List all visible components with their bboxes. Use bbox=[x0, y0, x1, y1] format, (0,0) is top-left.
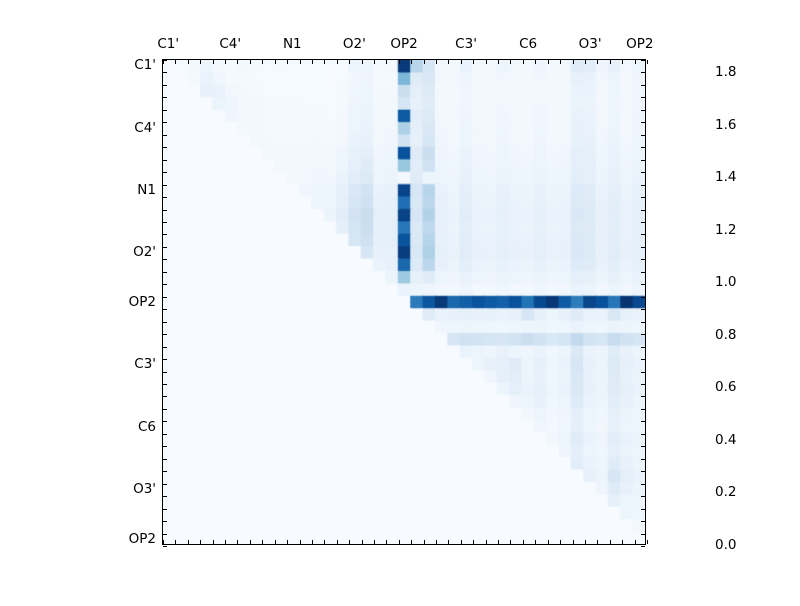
y-tick bbox=[163, 297, 167, 298]
x-tick bbox=[188, 60, 189, 64]
y-tick bbox=[163, 359, 167, 360]
y-tick bbox=[641, 521, 645, 522]
x-tick bbox=[610, 60, 611, 64]
heatmap-image bbox=[163, 60, 645, 544]
x-tick-label: OP2 bbox=[390, 36, 417, 52]
colorbar-tick-label: 1.6 bbox=[715, 117, 736, 133]
x-tick bbox=[250, 540, 251, 544]
y-tick bbox=[163, 496, 167, 497]
x-tick bbox=[349, 540, 350, 544]
x-tick bbox=[237, 60, 238, 64]
x-tick bbox=[262, 540, 263, 544]
y-tick-label: C4' bbox=[134, 120, 156, 136]
x-tick bbox=[275, 540, 276, 544]
x-tick bbox=[300, 540, 301, 544]
x-tick bbox=[585, 540, 586, 544]
y-tick bbox=[641, 459, 645, 460]
y-tick bbox=[641, 309, 645, 310]
x-tick bbox=[213, 60, 214, 64]
x-tick bbox=[200, 60, 201, 64]
y-tick bbox=[641, 234, 645, 235]
x-tick bbox=[200, 540, 201, 544]
y-tick bbox=[163, 509, 167, 510]
y-tick bbox=[641, 359, 645, 360]
x-tick bbox=[585, 60, 586, 64]
x-tick bbox=[225, 540, 226, 544]
y-tick bbox=[163, 85, 167, 86]
x-tick bbox=[175, 540, 176, 544]
y-tick bbox=[163, 471, 167, 472]
y-tick bbox=[163, 210, 167, 211]
x-tick bbox=[374, 60, 375, 64]
x-tick bbox=[411, 540, 412, 544]
x-tick bbox=[610, 540, 611, 544]
x-tick-label: O3' bbox=[579, 36, 602, 52]
x-tick bbox=[312, 540, 313, 544]
x-tick bbox=[275, 60, 276, 64]
y-tick bbox=[641, 147, 645, 148]
y-tick bbox=[641, 471, 645, 472]
x-tick bbox=[337, 540, 338, 544]
x-tick bbox=[225, 60, 226, 64]
x-tick bbox=[597, 60, 598, 64]
colorbar: 0.00.20.40.60.81.01.21.41.61.8 bbox=[679, 59, 789, 545]
y-tick bbox=[641, 546, 645, 547]
y-tick bbox=[163, 234, 167, 235]
x-tick bbox=[523, 60, 524, 64]
x-tick bbox=[424, 540, 425, 544]
x-tick bbox=[647, 540, 648, 544]
x-tick bbox=[324, 60, 325, 64]
x-tick bbox=[523, 540, 524, 544]
y-tick bbox=[641, 496, 645, 497]
y-tick bbox=[641, 409, 645, 410]
y-tick-label: C3' bbox=[134, 356, 156, 372]
y-tick-label: C6 bbox=[138, 419, 156, 435]
x-tick bbox=[436, 540, 437, 544]
x-tick bbox=[287, 60, 288, 64]
x-tick bbox=[448, 540, 449, 544]
colorbar-tick-label: 1.8 bbox=[715, 64, 736, 80]
y-tick-label: N1 bbox=[137, 182, 156, 198]
x-tick bbox=[486, 60, 487, 64]
y-tick bbox=[641, 172, 645, 173]
x-tick bbox=[337, 60, 338, 64]
y-tick bbox=[641, 197, 645, 198]
colorbar-tick-label: 0.4 bbox=[715, 432, 736, 448]
x-tick bbox=[560, 60, 561, 64]
y-tick bbox=[641, 272, 645, 273]
y-tick bbox=[163, 160, 167, 161]
x-tick bbox=[436, 60, 437, 64]
y-tick-label: OP2 bbox=[129, 294, 156, 310]
y-tick-label: O2' bbox=[133, 244, 156, 260]
y-tick bbox=[641, 97, 645, 98]
x-tick bbox=[262, 60, 263, 64]
y-tick bbox=[641, 259, 645, 260]
x-tick bbox=[424, 60, 425, 64]
x-tick bbox=[498, 540, 499, 544]
colorbar-tick-label: 0.2 bbox=[715, 484, 736, 500]
y-tick bbox=[163, 459, 167, 460]
y-tick bbox=[641, 185, 645, 186]
x-tick bbox=[510, 60, 511, 64]
colorbar-tick-label: 1.2 bbox=[715, 222, 736, 238]
x-tick bbox=[175, 60, 176, 64]
colorbar-tick-label: 0.8 bbox=[715, 327, 736, 343]
y-tick bbox=[163, 534, 167, 535]
y-tick bbox=[163, 396, 167, 397]
x-tick-label: OP2 bbox=[626, 36, 653, 52]
x-tick bbox=[473, 60, 474, 64]
x-tick bbox=[548, 540, 549, 544]
y-tick bbox=[641, 60, 645, 61]
y-tick bbox=[163, 97, 167, 98]
y-tick bbox=[163, 60, 167, 61]
x-tick bbox=[448, 60, 449, 64]
y-tick bbox=[163, 110, 167, 111]
y-tick bbox=[163, 72, 167, 73]
heatmap-axes[interactable] bbox=[162, 59, 646, 545]
y-tick bbox=[163, 347, 167, 348]
x-tick bbox=[535, 540, 536, 544]
y-tick bbox=[163, 197, 167, 198]
x-tick bbox=[548, 60, 549, 64]
colorbar-tick-label: 0.0 bbox=[715, 537, 736, 553]
colorbar-tick-label: 1.0 bbox=[715, 274, 736, 290]
y-tick bbox=[163, 309, 167, 310]
y-tick bbox=[163, 284, 167, 285]
y-tick bbox=[641, 384, 645, 385]
x-tick-label: O2' bbox=[343, 36, 366, 52]
x-tick bbox=[622, 540, 623, 544]
y-tick bbox=[163, 259, 167, 260]
y-tick bbox=[641, 322, 645, 323]
x-tick bbox=[635, 60, 636, 64]
y-tick bbox=[641, 110, 645, 111]
x-tick bbox=[300, 60, 301, 64]
y-tick bbox=[163, 384, 167, 385]
y-tick bbox=[641, 434, 645, 435]
y-tick bbox=[641, 372, 645, 373]
y-tick bbox=[163, 434, 167, 435]
y-tick bbox=[163, 446, 167, 447]
y-tick bbox=[163, 484, 167, 485]
y-tick bbox=[641, 85, 645, 86]
y-tick bbox=[163, 247, 167, 248]
y-tick bbox=[163, 185, 167, 186]
y-tick bbox=[163, 122, 167, 123]
x-tick bbox=[498, 60, 499, 64]
y-tick bbox=[641, 484, 645, 485]
x-tick-label: C1' bbox=[157, 36, 179, 52]
y-tick bbox=[641, 347, 645, 348]
y-tick bbox=[641, 122, 645, 123]
x-tick bbox=[461, 60, 462, 64]
x-tick bbox=[560, 540, 561, 544]
x-tick bbox=[573, 60, 574, 64]
x-tick bbox=[399, 60, 400, 64]
y-tick bbox=[163, 172, 167, 173]
y-tick bbox=[641, 396, 645, 397]
y-tick bbox=[163, 222, 167, 223]
y-tick bbox=[641, 72, 645, 73]
x-tick-label: N1 bbox=[283, 36, 302, 52]
x-tick bbox=[411, 60, 412, 64]
y-tick bbox=[641, 334, 645, 335]
x-tick bbox=[362, 540, 363, 544]
x-tick-label: C4' bbox=[219, 36, 241, 52]
x-tick bbox=[188, 540, 189, 544]
x-tick bbox=[622, 60, 623, 64]
x-tick bbox=[324, 540, 325, 544]
x-tick-label: C6 bbox=[519, 36, 537, 52]
y-tick-label: O3' bbox=[133, 481, 156, 497]
y-tick bbox=[163, 135, 167, 136]
x-tick bbox=[349, 60, 350, 64]
x-tick bbox=[635, 540, 636, 544]
x-tick bbox=[486, 540, 487, 544]
x-tick bbox=[312, 60, 313, 64]
x-tick bbox=[237, 540, 238, 544]
colorbar-tick-label: 0.6 bbox=[715, 379, 736, 395]
y-tick-label: C1' bbox=[134, 57, 156, 73]
y-tick bbox=[163, 322, 167, 323]
x-tick bbox=[386, 60, 387, 64]
figure: C1'C4'N1O2'OP2C3'C6O3'OP2 C1'C4'N1O2'OP2… bbox=[0, 0, 800, 600]
x-tick bbox=[287, 540, 288, 544]
x-tick bbox=[399, 540, 400, 544]
y-tick bbox=[163, 147, 167, 148]
x-tick-label: C3' bbox=[455, 36, 477, 52]
y-tick bbox=[641, 297, 645, 298]
x-tick bbox=[535, 60, 536, 64]
y-tick bbox=[163, 409, 167, 410]
x-tick bbox=[647, 60, 648, 64]
y-tick-label: OP2 bbox=[129, 531, 156, 547]
y-tick bbox=[163, 546, 167, 547]
x-tick bbox=[597, 540, 598, 544]
x-tick bbox=[362, 60, 363, 64]
x-tick bbox=[461, 540, 462, 544]
y-tick bbox=[641, 135, 645, 136]
x-tick bbox=[163, 540, 164, 544]
y-tick bbox=[641, 284, 645, 285]
y-tick bbox=[641, 222, 645, 223]
y-tick bbox=[641, 247, 645, 248]
x-tick bbox=[473, 540, 474, 544]
y-tick bbox=[641, 509, 645, 510]
x-tick bbox=[213, 540, 214, 544]
y-tick bbox=[641, 534, 645, 535]
x-tick bbox=[250, 60, 251, 64]
x-tick bbox=[386, 540, 387, 544]
x-tick bbox=[510, 540, 511, 544]
y-tick bbox=[163, 334, 167, 335]
x-tick bbox=[374, 540, 375, 544]
y-axis-tick-labels: C1'C4'N1O2'OP2C3'C6O3'OP2 bbox=[90, 59, 156, 545]
y-tick bbox=[163, 521, 167, 522]
y-tick bbox=[163, 421, 167, 422]
y-tick bbox=[163, 272, 167, 273]
y-tick bbox=[163, 372, 167, 373]
y-tick bbox=[641, 421, 645, 422]
y-tick bbox=[641, 160, 645, 161]
colorbar-tick-label: 1.4 bbox=[715, 169, 736, 185]
x-tick bbox=[573, 540, 574, 544]
y-tick bbox=[641, 210, 645, 211]
y-tick bbox=[641, 446, 645, 447]
